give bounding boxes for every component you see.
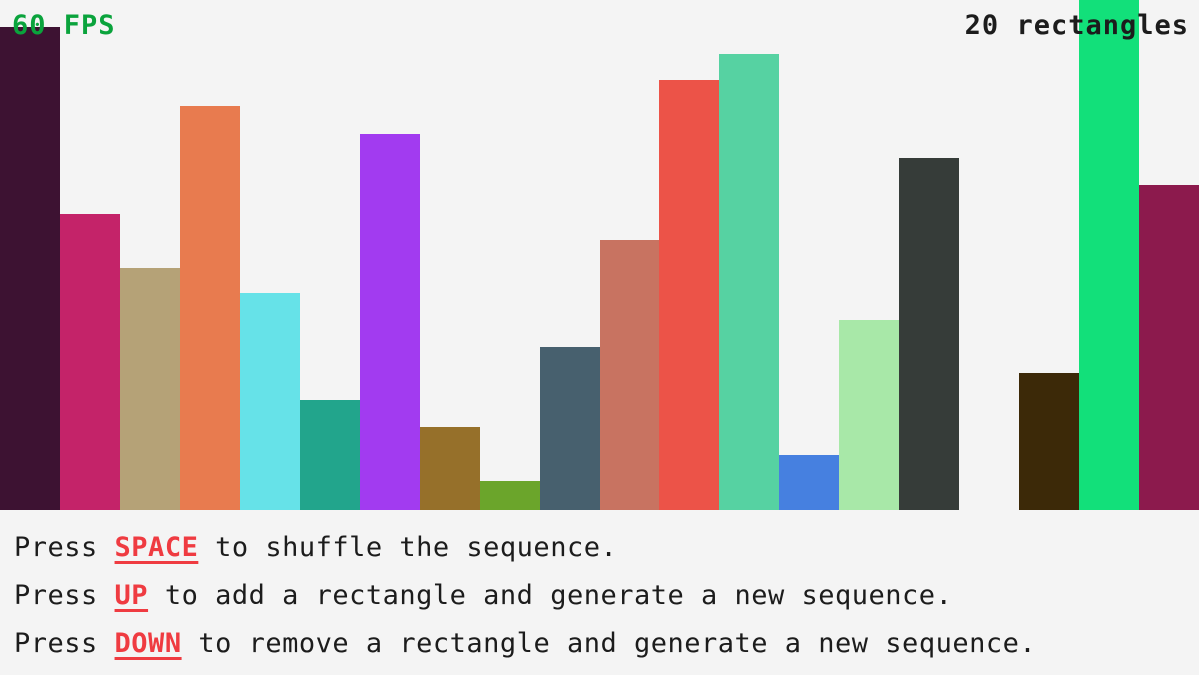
instruction-line-2: Press UP to add a rectangle and generate… — [14, 572, 1199, 620]
bar-15 — [839, 320, 899, 510]
app-canvas: 60 FPS 20 rectangles Press SPACE to shuf… — [0, 0, 1199, 675]
bar-2 — [60, 214, 120, 510]
rectangle-count-label: 20 rectangles — [965, 12, 1189, 39]
instruction-prefix: Press — [14, 628, 115, 659]
bar-1 — [0, 27, 60, 510]
instruction-prefix: Press — [14, 580, 115, 611]
bar-13 — [719, 54, 779, 510]
bar-19 — [1079, 0, 1139, 510]
bar-14 — [779, 455, 839, 510]
bar-5 — [240, 293, 300, 510]
bar-12 — [659, 80, 719, 510]
bar-7 — [360, 134, 420, 510]
instruction-line-1: Press SPACE to shuffle the sequence. — [14, 524, 1199, 572]
bar-9 — [480, 481, 540, 510]
bar-18 — [1019, 373, 1079, 510]
bar-16 — [899, 158, 959, 510]
bar-10 — [540, 347, 600, 510]
bar-11 — [600, 240, 660, 510]
instruction-suffix: to remove a rectangle and generate a new… — [182, 628, 1037, 659]
instruction-suffix: to shuffle the sequence. — [198, 532, 617, 563]
key-hint-space[interactable]: SPACE — [115, 532, 199, 563]
instruction-line-3: Press DOWN to remove a rectangle and gen… — [14, 620, 1199, 668]
bar-8 — [420, 427, 480, 510]
bar-3 — [120, 268, 180, 510]
instruction-prefix: Press — [14, 532, 115, 563]
bar-20 — [1139, 185, 1199, 510]
instruction-suffix: to add a rectangle and generate a new se… — [148, 580, 952, 611]
key-hint-down[interactable]: DOWN — [115, 628, 182, 659]
instructions-panel: Press SPACE to shuffle the sequence.Pres… — [0, 510, 1199, 675]
bar-4 — [180, 106, 240, 510]
bar-chart — [0, 0, 1199, 510]
key-hint-up[interactable]: UP — [115, 580, 149, 611]
fps-counter: 60 FPS — [12, 12, 116, 39]
bar-6 — [300, 400, 360, 510]
